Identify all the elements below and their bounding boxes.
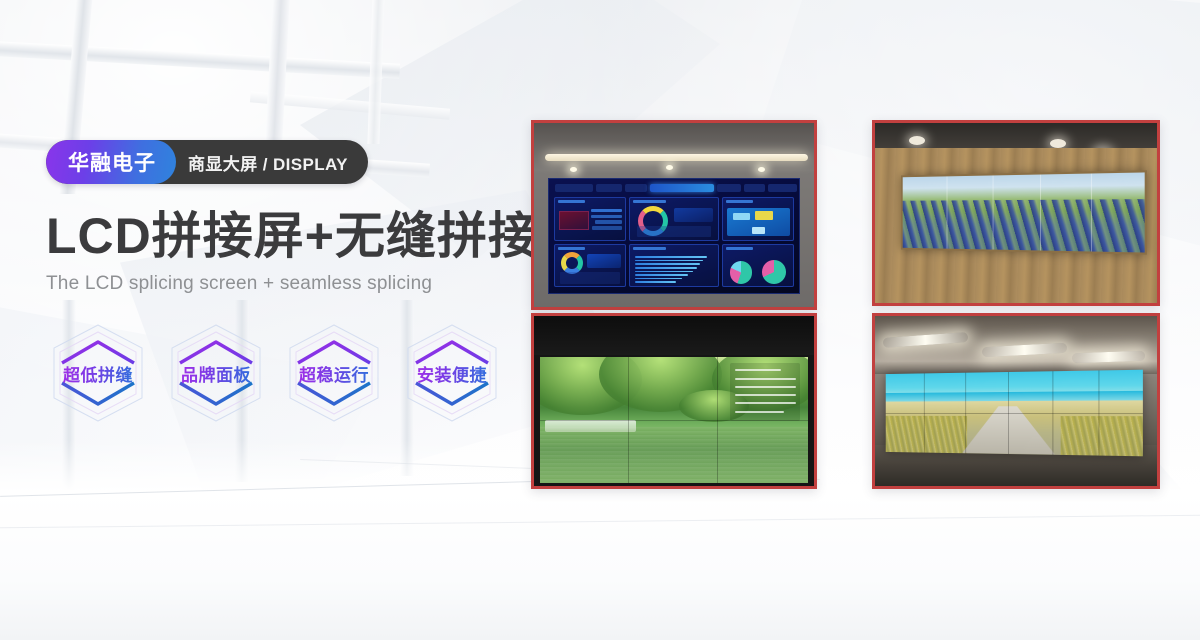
dashboard-card — [629, 244, 719, 288]
ceiling-lamp — [1072, 350, 1146, 363]
feature-label: 安装便捷 — [417, 361, 487, 386]
dune-grass — [886, 416, 968, 453]
feature-label: 品牌面板 — [181, 361, 251, 386]
dashboard-card — [554, 197, 626, 241]
calendar-overlay — [730, 363, 800, 421]
feature-list: 超低拼缝 品牌面板 超稳运行 — [46, 321, 526, 425]
feature-item-4[interactable]: 安装便捷 — [400, 321, 504, 425]
ceiling — [534, 123, 814, 171]
lake-water — [540, 427, 809, 482]
dashboard-card — [722, 197, 794, 241]
dashboard-card — [722, 244, 794, 288]
video-wall-screen — [540, 357, 809, 483]
spot-light — [570, 167, 577, 172]
photo-beach-boardwalk-wall[interactable] — [872, 313, 1160, 489]
feature-label: 超稳运行 — [299, 361, 369, 386]
feature-item-1[interactable]: 超低拼缝 — [46, 321, 150, 425]
photo-dashboard-wall[interactable] — [531, 120, 817, 310]
bar-chart — [635, 256, 712, 283]
feature-item-2[interactable]: 品牌面板 — [164, 321, 268, 425]
photo-lake-scene-wall[interactable] — [531, 313, 817, 489]
dune-grass — [1060, 416, 1143, 456]
wall-above-screen — [534, 316, 814, 355]
solar-panel-field — [903, 199, 1145, 253]
spot-light — [909, 136, 925, 145]
brand-category: 商显大屏 / DISPLAY — [158, 140, 368, 184]
feature-label: 超低拼缝 — [63, 361, 133, 386]
video-wall-screen — [886, 370, 1144, 456]
video-wall-screen — [901, 171, 1147, 256]
banner-text-column: 华融电子 商显大屏 / DISPLAY LCD拼接屏+无缝拼接 The LCD … — [46, 140, 526, 425]
brand-pill[interactable]: 华融电子 商显大屏 / DISPLAY — [46, 140, 368, 184]
cove-light — [545, 154, 808, 161]
video-wall-screen — [548, 178, 800, 294]
dashboard-card — [629, 197, 719, 241]
lakeside-railing — [545, 420, 636, 433]
photo-solar-farm-wall[interactable] — [872, 120, 1160, 306]
dashboard-grid — [552, 194, 796, 290]
promo-banner: 华融电子 商显大屏 / DISPLAY LCD拼接屏+无缝拼接 The LCD … — [0, 0, 1200, 640]
page-title: LCD拼接屏+无缝拼接 — [46, 210, 526, 263]
page-subtitle: The LCD splicing screen + seamless splic… — [46, 273, 526, 295]
feature-item-3[interactable]: 超稳运行 — [282, 321, 386, 425]
dashboard-header — [552, 182, 796, 194]
brand-name: 华融电子 — [46, 140, 176, 184]
dashboard-card — [554, 244, 626, 288]
spot-light — [758, 167, 765, 172]
